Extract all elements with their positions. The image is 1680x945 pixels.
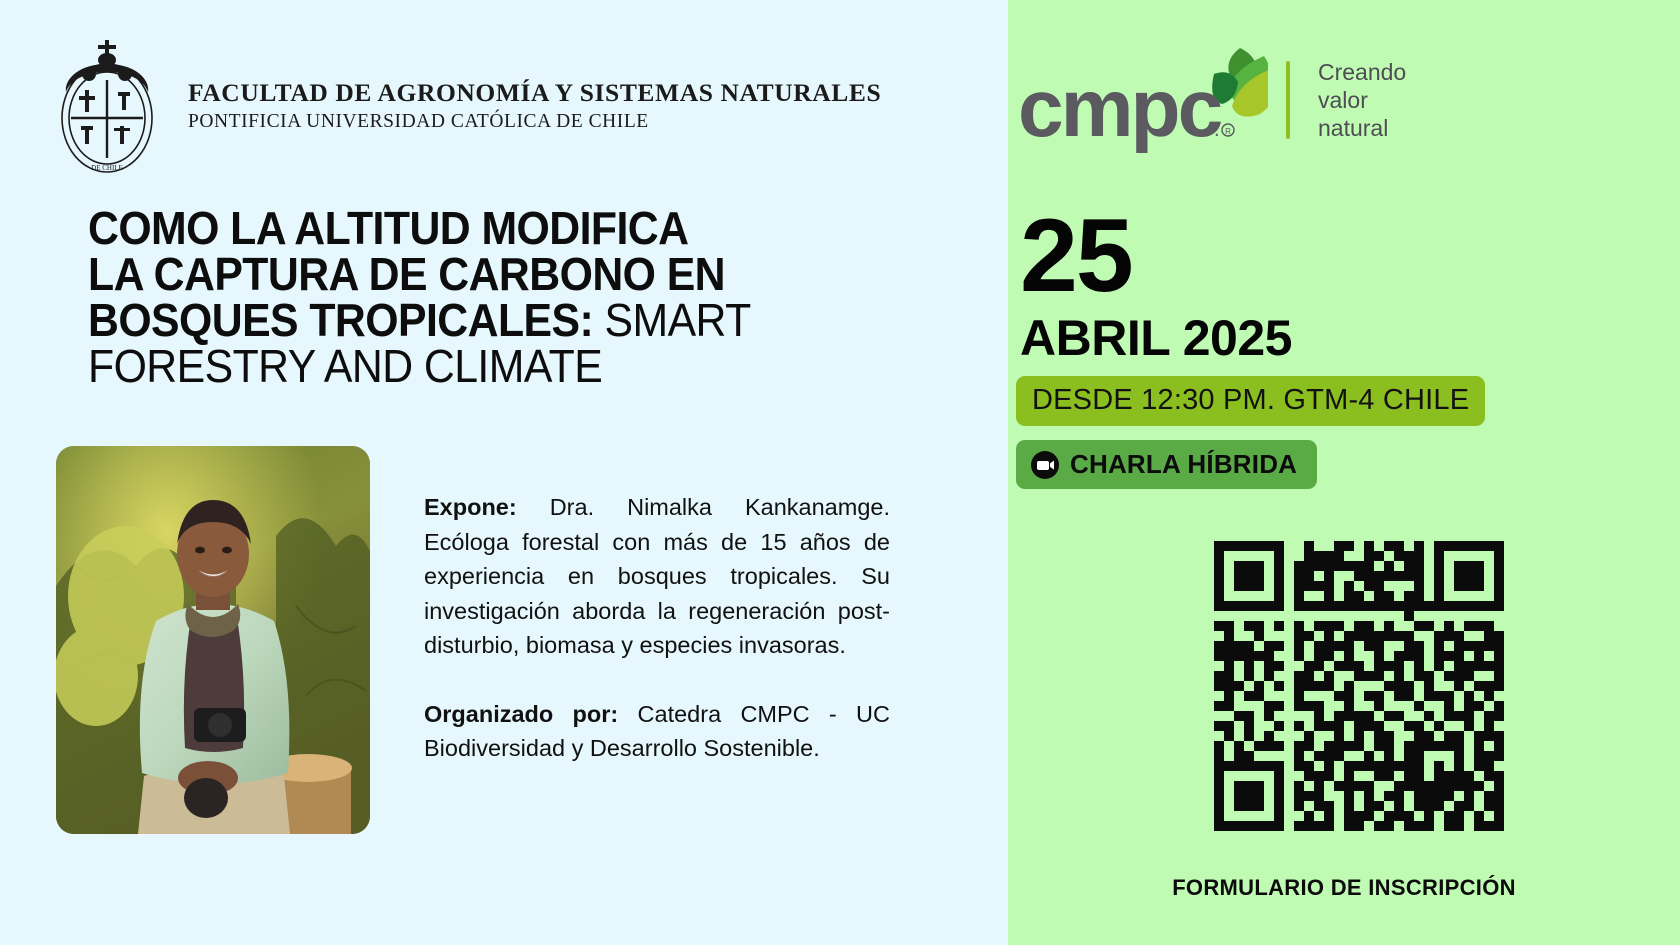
sponsor-divider — [1286, 61, 1290, 139]
speaker-paragraph: Expone: Dra. Nimalka Kankanamge. Ecóloga… — [424, 490, 890, 663]
sponsor-tagline: Creando valor natural — [1318, 58, 1406, 142]
svg-text:DE CHILE: DE CHILE — [91, 164, 123, 172]
title-line-2: LA CAPTURA DE CARBONO EN — [88, 251, 860, 297]
svg-text:R: R — [1225, 127, 1231, 136]
tagline-line-1: Creando — [1318, 59, 1406, 85]
event-mode-badge: CHARLA HÍBRIDA — [1016, 440, 1317, 489]
title-line-4: FORESTRY AND CLIMATE — [88, 343, 860, 389]
svg-text:.: . — [1214, 119, 1220, 141]
page-title: COMO LA ALTITUD MODIFICA LA CAPTURA DE C… — [88, 205, 918, 389]
right-panel: cmpc . R Creando valor natural 25 ABRIL … — [1008, 0, 1680, 945]
qr-code-registration[interactable] — [1214, 541, 1504, 831]
left-panel: DE CHILE FACULTAD DE AGRONOMÍA Y SISTEMA… — [0, 0, 1008, 945]
uc-shield-crest-icon: DE CHILE — [48, 30, 166, 175]
event-day: 25 — [1014, 208, 1674, 304]
body-copy: Expone: Dra. Nimalka Kankanamge. Ecóloga… — [424, 490, 890, 766]
svg-text:cmpc: cmpc — [1018, 63, 1222, 154]
event-poster: DE CHILE FACULTAD DE AGRONOMÍA Y SISTEMA… — [0, 0, 1680, 945]
speaker-photo — [56, 446, 370, 834]
sponsor-lockup: cmpc . R Creando valor natural — [1018, 40, 1406, 160]
title-line-3-light: SMART — [593, 294, 751, 346]
qr-caption: FORMULARIO DE INSCRIPCIÓN — [1008, 875, 1680, 901]
event-month-year: ABRIL 2025 — [1014, 310, 1674, 366]
tagline-line-2: valor — [1318, 87, 1368, 113]
faculty-name: FACULTAD DE AGRONOMÍA Y SISTEMAS NATURAL… — [188, 79, 881, 107]
institution-lockup: DE CHILE FACULTAD DE AGRONOMÍA Y SISTEMA… — [48, 30, 881, 175]
title-line-3: BOSQUES TROPICALES: SMART — [88, 297, 860, 343]
university-name: PONTIFICIA UNIVERSIDAD CATÓLICA DE CHILE — [188, 111, 881, 133]
tagline-line-3: natural — [1318, 115, 1388, 141]
organizer-label: Organizado por: — [424, 701, 618, 727]
organizer-paragraph: Organizado por: Catedra CMPC - UC Biodiv… — [424, 697, 890, 766]
speaker-label: Expone: — [424, 494, 517, 520]
video-camera-icon — [1030, 450, 1060, 480]
cmpc-logo-icon: cmpc . R — [1018, 40, 1268, 160]
title-line-3-bold: BOSQUES TROPICALES: — [88, 294, 593, 346]
event-time-badge: DESDE 12:30 PM. GTM-4 CHILE — [1016, 376, 1485, 426]
event-mode-label: CHARLA HÍBRIDA — [1070, 449, 1297, 480]
title-line-1: COMO LA ALTITUD MODIFICA — [88, 205, 860, 251]
event-date-block: 25 ABRIL 2025 DESDE 12:30 PM. GTM-4 CHIL… — [1014, 208, 1674, 489]
